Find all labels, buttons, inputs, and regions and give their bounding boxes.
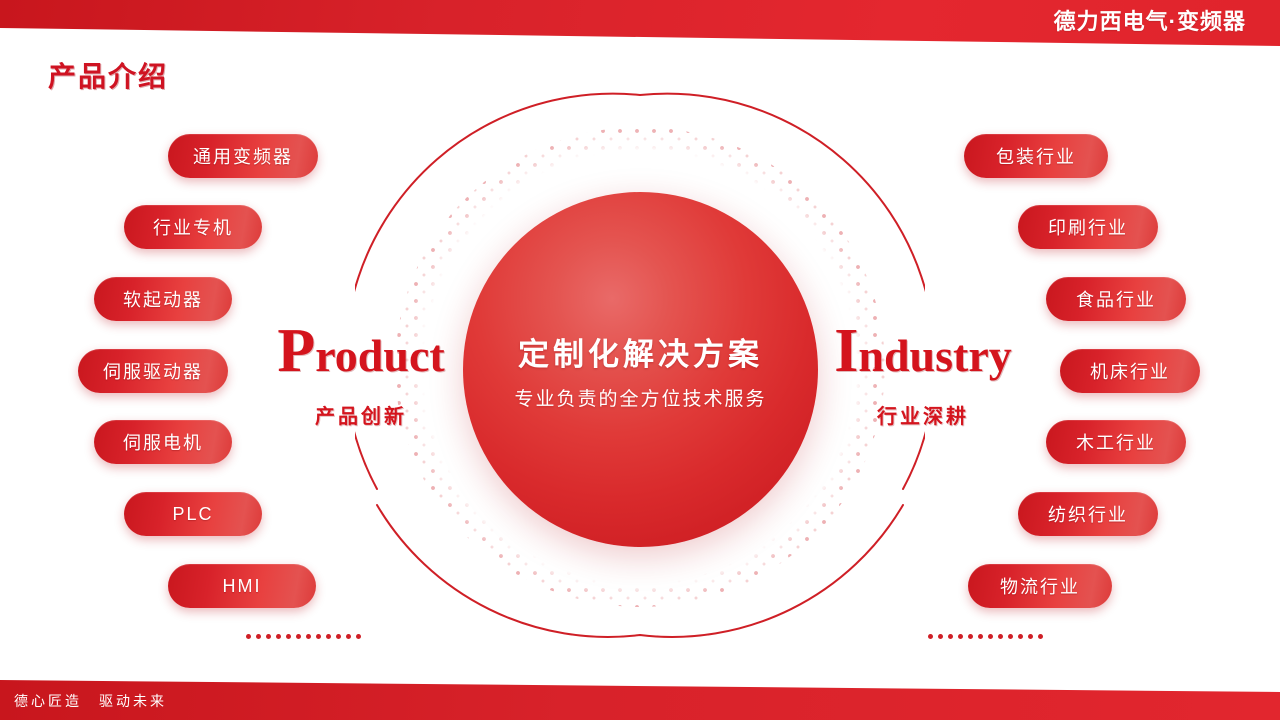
industry-pill-6[interactable]: 物流行业 xyxy=(968,564,1112,608)
dot xyxy=(266,634,271,639)
dot xyxy=(988,634,993,639)
industry-pill-1[interactable]: 印刷行业 xyxy=(1018,205,1158,249)
dot xyxy=(256,634,261,639)
dot xyxy=(938,634,943,639)
dot xyxy=(316,634,321,639)
industry-pill-4[interactable]: 木工行业 xyxy=(1046,420,1186,464)
center-circle xyxy=(463,192,818,547)
industry-heading: Industry 行业深耕 xyxy=(820,320,1026,429)
industry-pill-2[interactable]: 食品行业 xyxy=(1046,277,1186,321)
product-initial-letter: P xyxy=(277,317,315,385)
dot xyxy=(326,634,331,639)
industry-initial-letter: I xyxy=(834,317,858,385)
dot xyxy=(276,634,281,639)
dot xyxy=(1008,634,1013,639)
dot xyxy=(1018,634,1023,639)
dot xyxy=(958,634,963,639)
brand-logo: 德力西电气·变频器 xyxy=(1054,4,1246,36)
product-pill-5[interactable]: PLC xyxy=(124,492,262,536)
industry-heading-en: Industry xyxy=(820,320,1026,382)
dot xyxy=(286,634,291,639)
dot xyxy=(948,634,953,639)
product-pill-0[interactable]: 通用变频器 xyxy=(168,134,318,178)
dot xyxy=(246,634,251,639)
dot xyxy=(998,634,1003,639)
product-pill-4[interactable]: 伺服电机 xyxy=(94,420,232,464)
product-pill-3[interactable]: 伺服驱动器 xyxy=(78,349,228,393)
page-title: 产品介绍 xyxy=(48,55,168,95)
dot xyxy=(296,634,301,639)
slide-root: 德力西电气·变频器 产品介绍 定制化解决方案 专业负责的全方位技术服务 Prod… xyxy=(0,0,1280,720)
product-word-rest: roduct xyxy=(315,330,445,381)
industry-pill-0[interactable]: 包装行业 xyxy=(964,134,1108,178)
product-heading-cn: 产品创新 xyxy=(258,400,464,429)
dot xyxy=(928,634,933,639)
industry-heading-cn: 行业深耕 xyxy=(820,400,1026,429)
product-heading: Product 产品创新 xyxy=(258,320,464,429)
dot xyxy=(346,634,351,639)
industry-pill-3[interactable]: 机床行业 xyxy=(1060,349,1200,393)
dot xyxy=(978,634,983,639)
product-heading-en: Product xyxy=(258,320,464,382)
dot xyxy=(336,634,341,639)
dot xyxy=(1028,634,1033,639)
dotted-divider-1 xyxy=(928,633,1043,640)
dot xyxy=(1038,634,1043,639)
product-pill-6[interactable]: HMI xyxy=(168,564,316,608)
industry-pill-5[interactable]: 纺织行业 xyxy=(1018,492,1158,536)
product-pill-2[interactable]: 软起动器 xyxy=(94,277,232,321)
industry-word-rest: ndustry xyxy=(858,330,1011,381)
dotted-divider-0 xyxy=(246,633,361,640)
footer-slogan: 德心匠造 驱动未来 xyxy=(14,691,167,711)
dot xyxy=(968,634,973,639)
dot xyxy=(356,634,361,639)
dot xyxy=(306,634,311,639)
product-pill-1[interactable]: 行业专机 xyxy=(124,205,262,249)
